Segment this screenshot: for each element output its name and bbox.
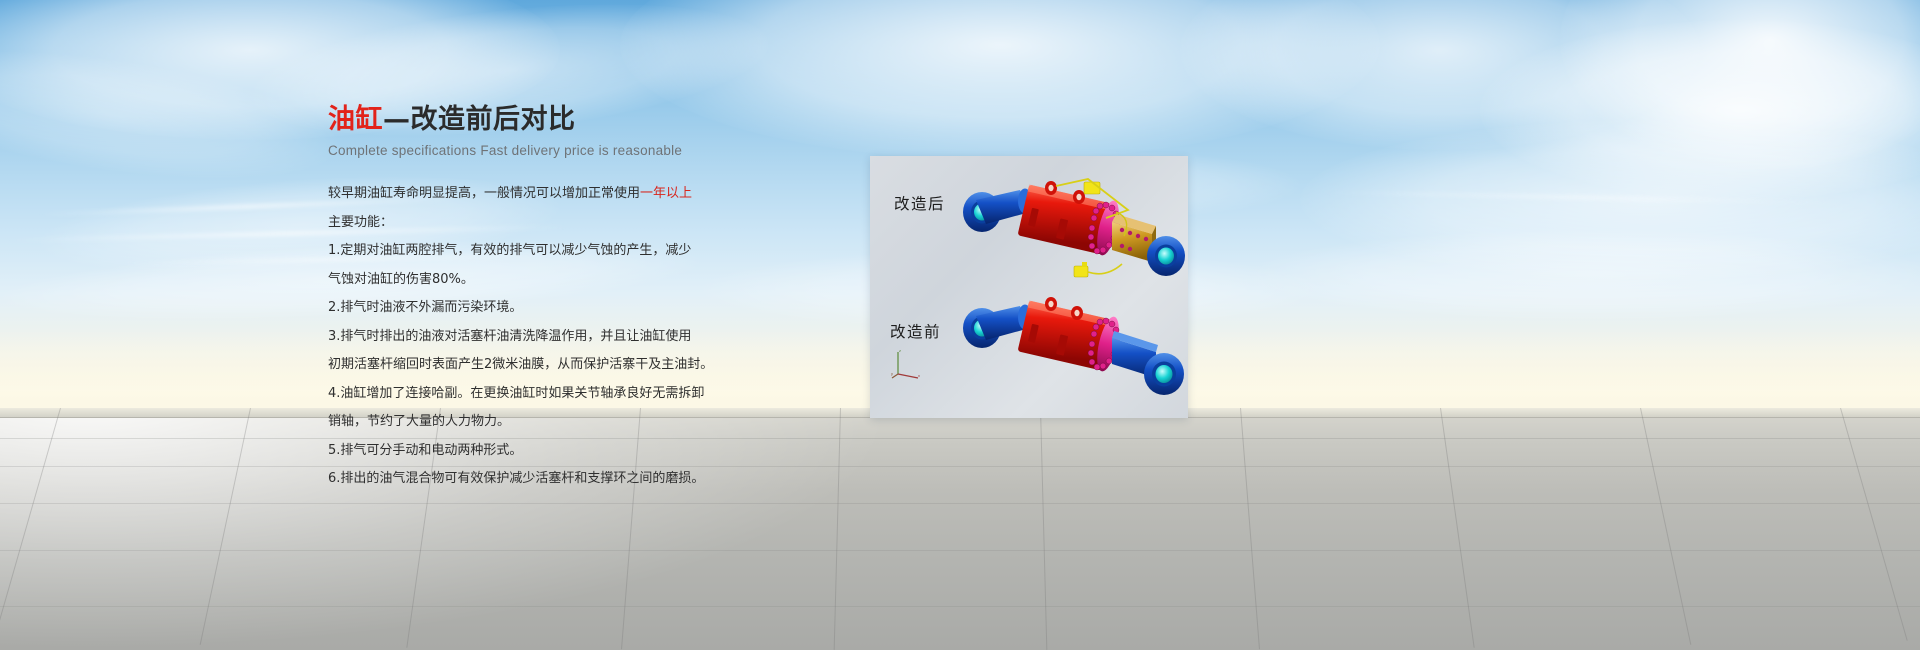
feature-line: 6.排出的油气混合物可有效保护减少活塞杆和支撑环之间的磨损。: [328, 465, 848, 494]
svg-text:x: x: [918, 373, 920, 378]
feature-line: 4.油缸增加了连接哈副。在更换油缸时如果关节轴承良好无需拆卸: [328, 380, 848, 409]
page-title: 油缸—改造前后对比: [328, 104, 848, 136]
feature-line: 5.排气可分手动和电动两种形式。: [328, 437, 848, 466]
feature-line: 初期活塞杆缩回时表面产生2微米油膜，从而保护活寨干及主油封。: [328, 351, 848, 380]
page-title-rest: —改造前后对比: [383, 104, 576, 135]
feature-line: 1.定期对油缸两腔排气，有效的排气可以减少气蚀的产生，减少: [328, 237, 848, 266]
feature-line: 2.排气时油液不外漏而污染环境。: [328, 294, 848, 323]
plaza-ground: [0, 408, 1920, 650]
intro-line: 较早期油缸寿命明显提高，一般情况可以增加正常使用一年以上: [328, 180, 848, 209]
cylinder-assembly-before: [956, 288, 1188, 414]
intro-highlight: 一年以上: [640, 186, 692, 201]
feature-line: 3.排气时排出的油液对活塞杆油清洗降温作用，并且让油缸使用: [328, 323, 848, 352]
label-before-modification: 改造前: [890, 320, 941, 342]
clevis-eye-right: [1147, 236, 1185, 276]
banner-text-block: 油缸—改造前后对比 Complete specifications Fast d…: [328, 104, 848, 494]
features-label: 主要功能：: [328, 209, 848, 238]
page-subtitle: Complete specifications Fast delivery pr…: [328, 143, 848, 158]
svg-text:z: z: [899, 348, 901, 353]
label-after-modification: 改造后: [894, 192, 945, 214]
feature-line: 销轴，节约了大量的人力物力。: [328, 408, 848, 437]
intro-text: 较早期油缸寿命明显提高，一般情况可以增加正常使用: [328, 186, 640, 201]
svg-text:y: y: [891, 371, 893, 376]
axis-triad-icon: z x y: [890, 348, 922, 380]
clevis-eye-right: [1144, 353, 1184, 395]
hero-banner: 油缸—改造前后对比 Complete specifications Fast d…: [0, 0, 1920, 650]
page-title-highlight: 油缸: [328, 104, 383, 135]
feature-line: 气蚀对油缸的伤害80%。: [328, 266, 848, 295]
cylinder-assembly-after: [956, 166, 1188, 286]
feature-copy: 较早期油缸寿命明显提高，一般情况可以增加正常使用一年以上 主要功能： 1.定期对…: [328, 180, 848, 494]
cad-comparison-panel: 改造后 改造前 z x y: [870, 156, 1188, 418]
